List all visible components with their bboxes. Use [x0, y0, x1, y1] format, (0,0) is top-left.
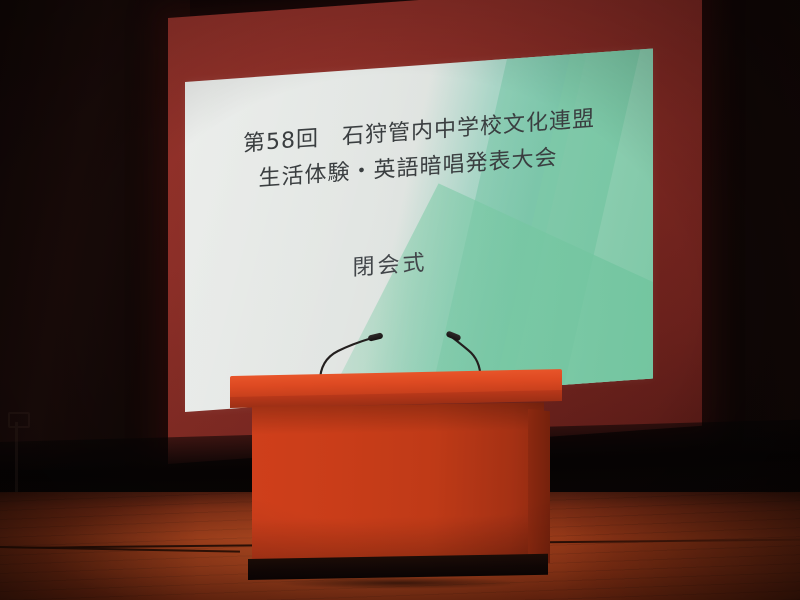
slide-text-block: 第58回 石狩管内中学校文化連盟 生活体験・英語暗唱発表大会 閉会式	[185, 48, 653, 412]
stage-curtain-left	[0, 0, 190, 470]
podium	[228, 376, 564, 588]
stage-scene: 第58回 石狩管内中学校文化連盟 生活体験・英語暗唱発表大会 閉会式	[0, 0, 800, 600]
podium-body	[252, 402, 544, 562]
presentation-slide: 第58回 石狩管内中学校文化連盟 生活体験・英語暗唱発表大会 閉会式	[185, 48, 653, 412]
music-stand-head	[8, 412, 30, 428]
slide-subtitle: 閉会式	[185, 233, 595, 294]
podium-side-panel	[528, 409, 550, 563]
podium-floor-shadow	[234, 576, 564, 590]
